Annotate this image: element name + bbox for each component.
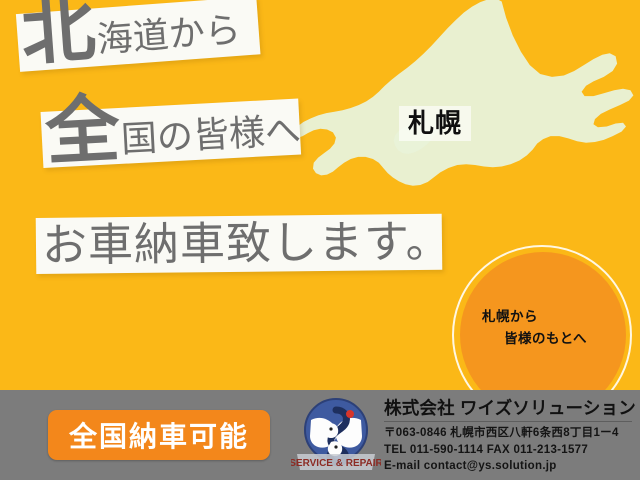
company-email: E-mail contact@ys.solution.jp <box>384 458 636 474</box>
company-phone: TEL 011-590-1114 FAX 011-213-1577 <box>384 442 636 458</box>
headline-1-big: 北 <box>19 0 97 68</box>
company-address: 〒063-0846 札幌市西区八軒6条西8丁目1ー4 <box>384 425 636 441</box>
map-city-label: 札幌 <box>399 106 471 141</box>
headline-2-big: 全 <box>44 95 120 167</box>
headline-banner-1: 北 海道から <box>16 0 261 72</box>
company-name: 株式会社 ワイズソリューション <box>384 399 636 418</box>
circle-text-line2: 皆様のもとへ <box>504 327 587 347</box>
company-divider <box>384 421 632 422</box>
logo-ribbon-text: SERVICE & REPAIR <box>291 458 381 469</box>
headline-banner-3: お車納車致します。 <box>36 214 443 274</box>
headline-3-text: お車納車致します。 <box>42 218 452 267</box>
headline-1-rest: 海道から <box>96 12 242 58</box>
poster-root: 札幌 札幌から 皆様のもとへ 北 海道から 全 国の皆様へ お車納車致します。 … <box>0 0 640 480</box>
circle-text-line1: 札幌から <box>482 305 538 325</box>
company-logo-icon: SERVICE & REPAIR <box>291 396 381 476</box>
nationwide-delivery-badge-label: 全国納車可能 <box>69 415 249 455</box>
company-info: 株式会社 ワイズソリューション 〒063-0846 札幌市西区八軒6条西8丁目1… <box>384 399 636 474</box>
headline-2-rest: 国の皆様へ <box>120 112 302 157</box>
headline-banner-2: 全 国の皆様へ <box>41 99 302 168</box>
nationwide-delivery-badge: 全国納車可能 <box>48 410 270 460</box>
